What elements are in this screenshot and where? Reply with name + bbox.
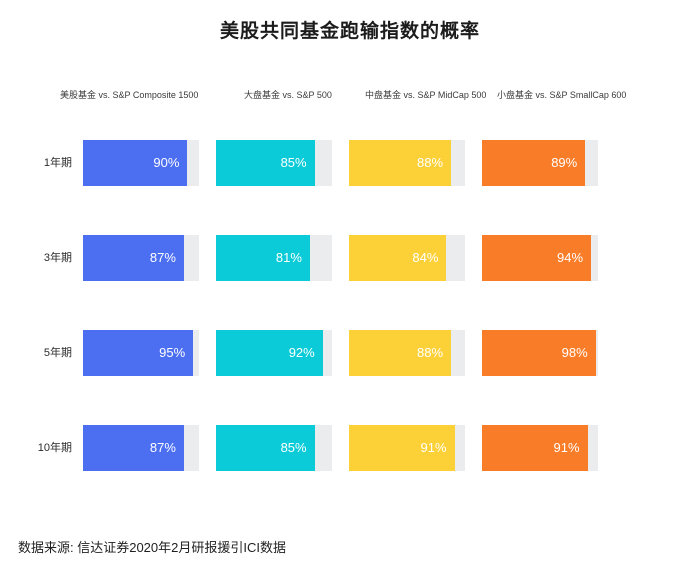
bar-value-label: 90% — [153, 140, 179, 186]
bar-segment[interactable]: 90% — [83, 140, 187, 186]
chart-title: 美股共同基金跑输指数的概率 — [0, 16, 700, 43]
bar-segment[interactable]: 88% — [349, 140, 451, 186]
bar-segment[interactable]: 84% — [349, 235, 446, 281]
bar-track: 85% — [216, 425, 332, 471]
bar-track: 91% — [349, 425, 465, 471]
bar-segment[interactable]: 87% — [83, 235, 184, 281]
bar-value-label: 85% — [281, 425, 307, 471]
chart-row: 10年期 87% 85% 91% 91% — [0, 425, 700, 471]
bar-value-label: 88% — [417, 140, 443, 186]
legend-item-2[interactable]: 中盘基金 vs. S&P MidCap 500 — [365, 88, 486, 102]
legend-item-3[interactable]: 小盘基金 vs. S&P SmallCap 600 — [497, 88, 626, 102]
bar-value-label: 85% — [281, 140, 307, 186]
chart-row: 5年期 95% 92% 88% 98% — [0, 330, 700, 376]
legend-label-0: 美股基金 vs. S&P Composite 1500 — [60, 90, 198, 100]
bar-value-label: 81% — [276, 235, 302, 281]
bar-segment[interactable]: 95% — [83, 330, 193, 376]
bar-segment[interactable]: 85% — [216, 425, 315, 471]
bar-segment[interactable]: 87% — [83, 425, 184, 471]
bar-track: 91% — [482, 425, 598, 471]
bar-track: 98% — [482, 330, 598, 376]
bar-track: 87% — [83, 235, 199, 281]
legend-label-1: 大盘基金 vs. S&P 500 — [244, 90, 332, 100]
bar-segment[interactable]: 81% — [216, 235, 310, 281]
data-source-note: 数据来源: 信达证券2020年2月研报援引ICI数据 — [18, 537, 286, 556]
chart-row: 3年期 87% 81% 84% 94% — [0, 235, 700, 281]
bar-value-label: 91% — [421, 425, 447, 471]
row-label: 1年期 — [0, 140, 72, 186]
bar-value-label: 88% — [417, 330, 443, 376]
bar-track: 95% — [83, 330, 199, 376]
bar-track: 94% — [482, 235, 598, 281]
plot-area: 1年期 90% 85% 88% 89% — [0, 128, 700, 488]
chart-row: 1年期 90% 85% 88% 89% — [0, 140, 700, 186]
bar-value-label: 87% — [150, 235, 176, 281]
bar-track: 81% — [216, 235, 332, 281]
legend-item-0[interactable]: 美股基金 vs. S&P Composite 1500 — [60, 88, 198, 102]
bar-segment[interactable]: 92% — [216, 330, 323, 376]
row-label: 5年期 — [0, 330, 72, 376]
bar-segment[interactable]: 88% — [349, 330, 451, 376]
bar-track: 88% — [349, 140, 465, 186]
bar-segment[interactable]: 94% — [482, 235, 591, 281]
bar-segment[interactable]: 91% — [482, 425, 588, 471]
bar-track: 90% — [83, 140, 199, 186]
bar-value-label: 87% — [150, 425, 176, 471]
legend-item-1[interactable]: 大盘基金 vs. S&P 500 — [244, 88, 332, 102]
legend-label-3: 小盘基金 vs. S&P SmallCap 600 — [497, 90, 626, 100]
bar-segment[interactable]: 89% — [482, 140, 585, 186]
bar-segment[interactable]: 98% — [482, 330, 596, 376]
bar-value-label: 95% — [159, 330, 185, 376]
row-label: 10年期 — [0, 425, 72, 471]
bar-value-label: 98% — [562, 330, 588, 376]
bar-segment[interactable]: 91% — [349, 425, 455, 471]
bar-segment[interactable]: 85% — [216, 140, 315, 186]
bar-value-label: 91% — [554, 425, 580, 471]
bar-track: 92% — [216, 330, 332, 376]
bar-value-label: 94% — [557, 235, 583, 281]
bar-track: 88% — [349, 330, 465, 376]
bar-value-label: 89% — [551, 140, 577, 186]
bar-track: 85% — [216, 140, 332, 186]
bar-track: 84% — [349, 235, 465, 281]
bar-track: 89% — [482, 140, 598, 186]
legend-label-2: 中盘基金 vs. S&P MidCap 500 — [365, 90, 486, 100]
bar-value-label: 92% — [289, 330, 315, 376]
chart-legend: 美股基金 vs. S&P Composite 1500 大盘基金 vs. S&P… — [60, 88, 660, 104]
row-label: 3年期 — [0, 235, 72, 281]
bar-track: 87% — [83, 425, 199, 471]
chart-container: 美股共同基金跑输指数的概率 美股基金 vs. S&P Composite 150… — [0, 0, 700, 576]
bar-value-label: 84% — [412, 235, 438, 281]
